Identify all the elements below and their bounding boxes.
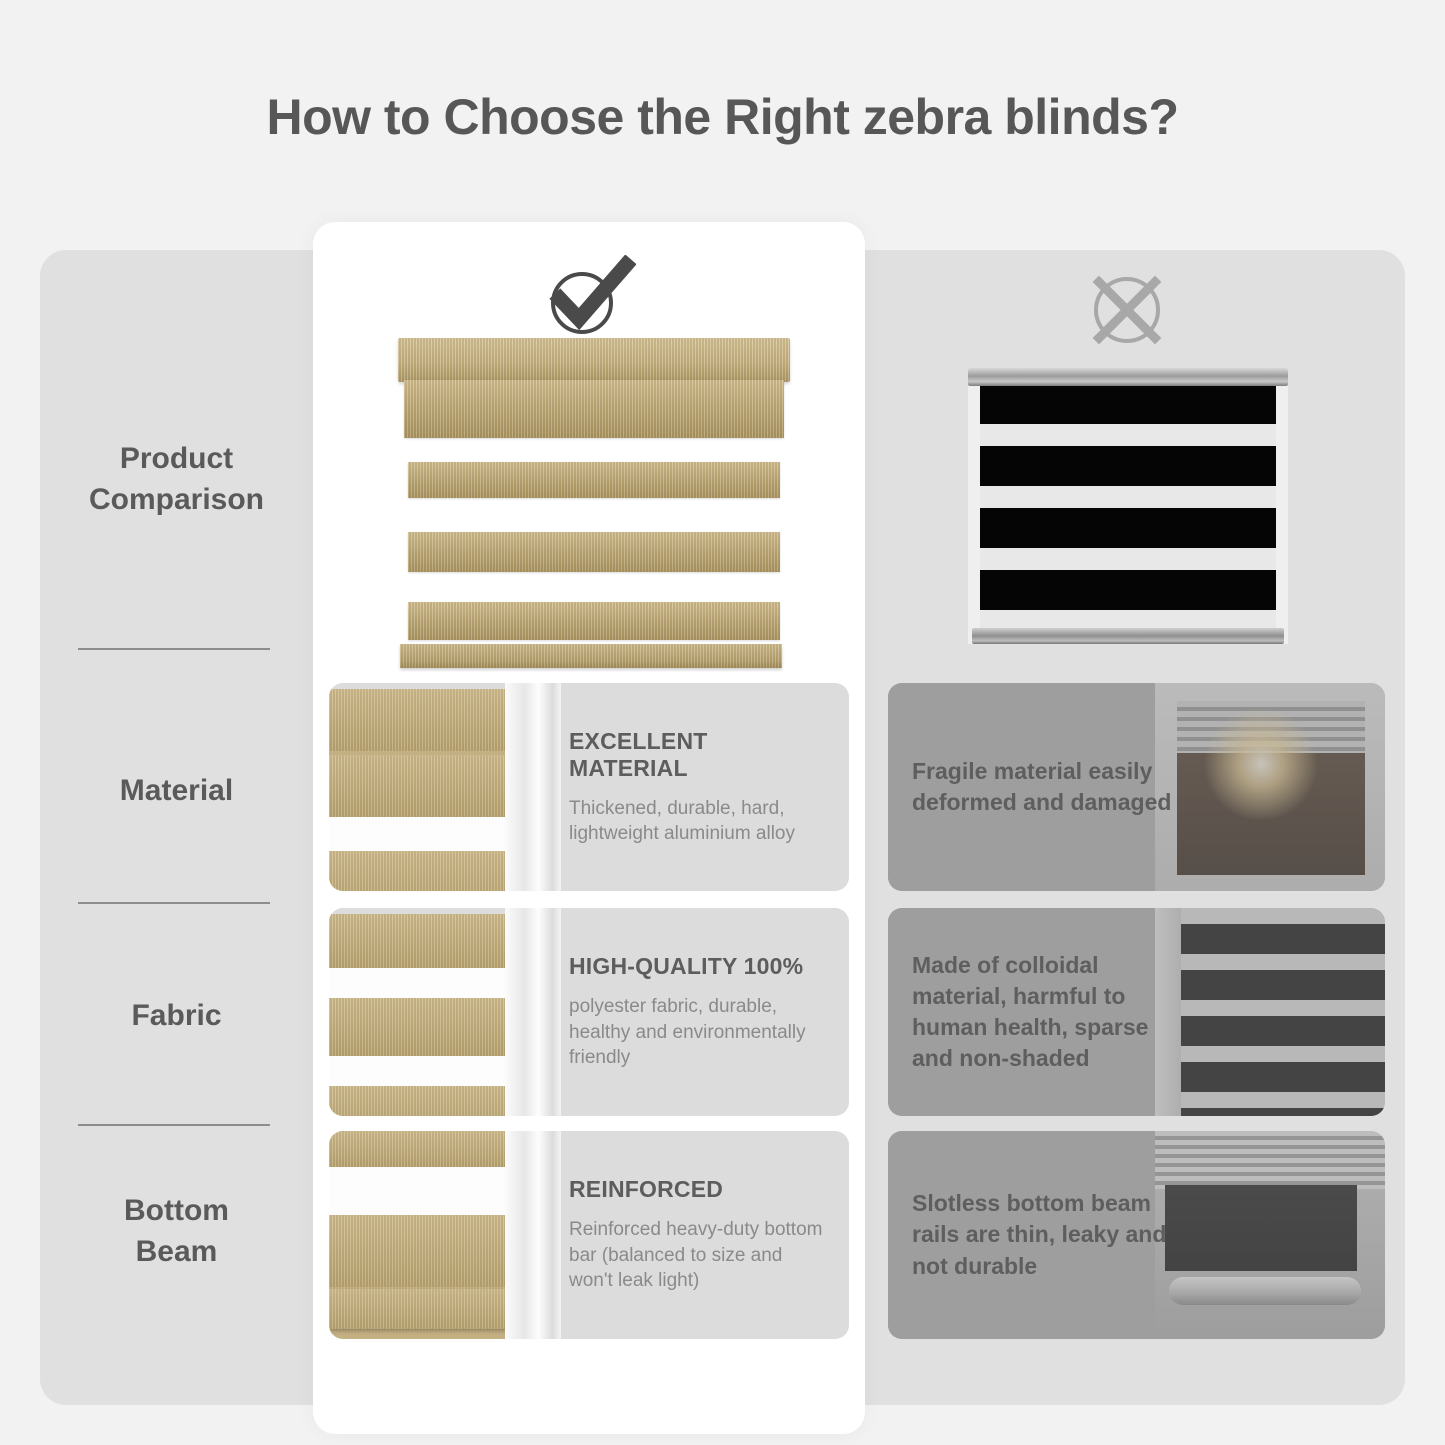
row-divider-3 (78, 1124, 270, 1126)
blind-headrail (398, 338, 790, 382)
bad-material-text: Fragile material easily deformed and dam… (912, 683, 1172, 891)
bad-hero-image (968, 368, 1288, 644)
feature-body: Thickened, durable, hard, lightweight al… (569, 796, 827, 847)
bad-fabric-image (1155, 908, 1385, 1116)
bad-material-image (1155, 683, 1385, 891)
feature-heading: EXCELLENT MATERIAL (569, 728, 827, 782)
check-circle-icon (540, 255, 636, 339)
blind-slat (408, 462, 780, 498)
drawback-body: Made of colloidal material, harmful to h… (912, 950, 1172, 1074)
beige-blind-graphic (329, 689, 509, 891)
black-blind-fabric (980, 384, 1276, 630)
page-title: How to Choose the Right zebra blinds? (0, 88, 1445, 146)
good-feature-card-bottom-beam: REINFORCED Reinforced heavy-duty bottom … (329, 1131, 849, 1339)
good-feature-card-material: EXCELLENT MATERIAL Thickened, durable, h… (329, 683, 849, 891)
drawback-body: Fragile material easily deformed and dam… (912, 756, 1172, 818)
blind-slat (408, 602, 780, 640)
feature-body: polyester fabric, durable, healthy and e… (569, 994, 827, 1070)
bad-bottom-beam-image (1155, 1131, 1385, 1339)
row-label-bottom-beam: Bottom Beam (40, 1190, 313, 1273)
good-material-image (329, 683, 561, 891)
bad-feature-card-material: Fragile material easily deformed and dam… (888, 683, 1385, 891)
row-divider-2 (78, 902, 270, 904)
window-frame-graphic (505, 908, 561, 1116)
good-feature-card-fabric: HIGH-QUALITY 100% polyester fabric, dura… (329, 908, 849, 1116)
good-fabric-image (329, 908, 561, 1116)
feature-body: Reinforced heavy-duty bottom bar (balanc… (569, 1217, 827, 1293)
row-label-column: Product Comparison Material Fabric Botto… (40, 250, 313, 1405)
feature-heading: REINFORCED (569, 1176, 827, 1203)
bad-fabric-text: Made of colloidal material, harmful to h… (912, 908, 1172, 1116)
bad-feature-card-bottom-beam: Slotless bottom beam rails are thin, lea… (888, 1131, 1385, 1339)
bad-bottom-beam-text: Slotless bottom beam rails are thin, lea… (912, 1131, 1172, 1339)
infographic-page: How to Choose the Right zebra blinds? Pr… (0, 0, 1445, 1445)
good-bottom-beam-image (329, 1131, 561, 1339)
row-label-product-comparison: Product Comparison (40, 438, 313, 521)
beige-bottom-bar-graphic (329, 1131, 525, 1339)
row-label-material: Material (40, 770, 313, 811)
beige-blind-graphic (329, 914, 509, 1116)
good-hero-image (390, 338, 798, 668)
window-frame-graphic (505, 683, 561, 891)
blind-slat (408, 532, 780, 572)
cross-circle-icon (1085, 268, 1169, 352)
drawback-body: Slotless bottom beam rails are thin, lea… (912, 1188, 1172, 1281)
good-fabric-text: HIGH-QUALITY 100% polyester fabric, dura… (569, 908, 849, 1116)
row-divider-1 (78, 648, 270, 650)
good-bottom-beam-text: REINFORCED Reinforced heavy-duty bottom … (569, 1131, 849, 1339)
black-blind-headrail (968, 368, 1288, 386)
black-blind-bottom-rail (972, 628, 1284, 644)
good-material-text: EXCELLENT MATERIAL Thickened, durable, h… (569, 683, 849, 891)
blind-bottom-bar (400, 644, 782, 668)
blind-slat (404, 380, 784, 438)
row-label-fabric: Fabric (40, 995, 313, 1036)
bad-feature-card-fabric: Made of colloidal material, harmful to h… (888, 908, 1385, 1116)
feature-heading: HIGH-QUALITY 100% (569, 953, 827, 980)
window-frame-graphic (505, 1131, 561, 1339)
